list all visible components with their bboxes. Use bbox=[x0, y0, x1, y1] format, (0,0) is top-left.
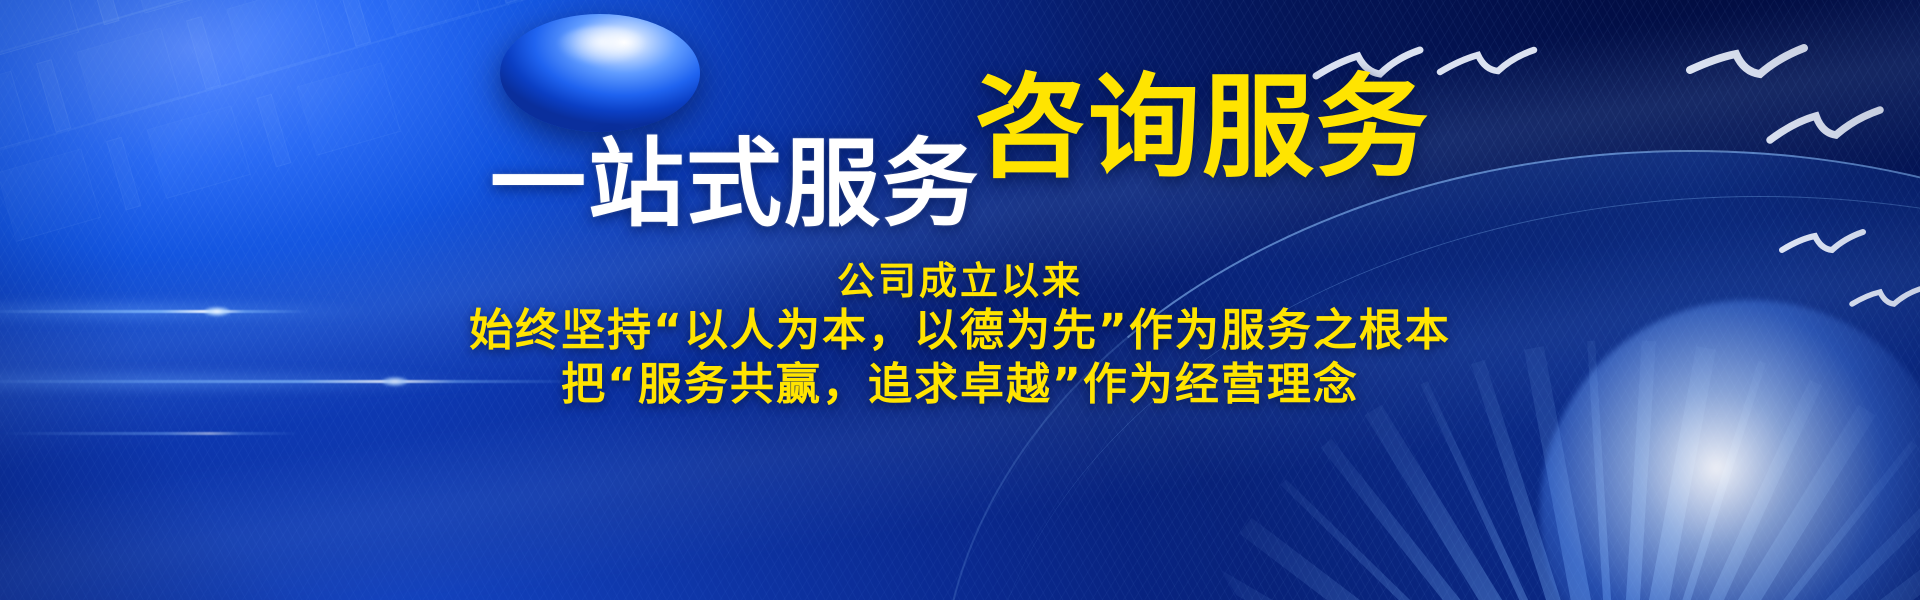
promo-banner: 一站式服务 咨询服务 公司成立以来 始终坚持“以人为本，以德为先”作为服务之根本… bbox=[0, 0, 1920, 600]
headline-primary: 一站式服务 bbox=[490, 136, 980, 232]
headline: 一站式服务 咨询服务 bbox=[0, 74, 1920, 186]
headline-accent: 咨询服务 bbox=[974, 72, 1430, 184]
body-line-2: 始终坚持“以人为本，以德为先”作为服务之根本 bbox=[0, 304, 1920, 358]
body-line-3: 把“服务共赢，追求卓越”作为经营理念 bbox=[0, 358, 1920, 412]
body-copy: 公司成立以来 始终坚持“以人为本，以德为先”作为服务之根本 把“服务共赢，追求卓… bbox=[0, 258, 1920, 412]
body-line-1: 公司成立以来 bbox=[0, 258, 1920, 304]
